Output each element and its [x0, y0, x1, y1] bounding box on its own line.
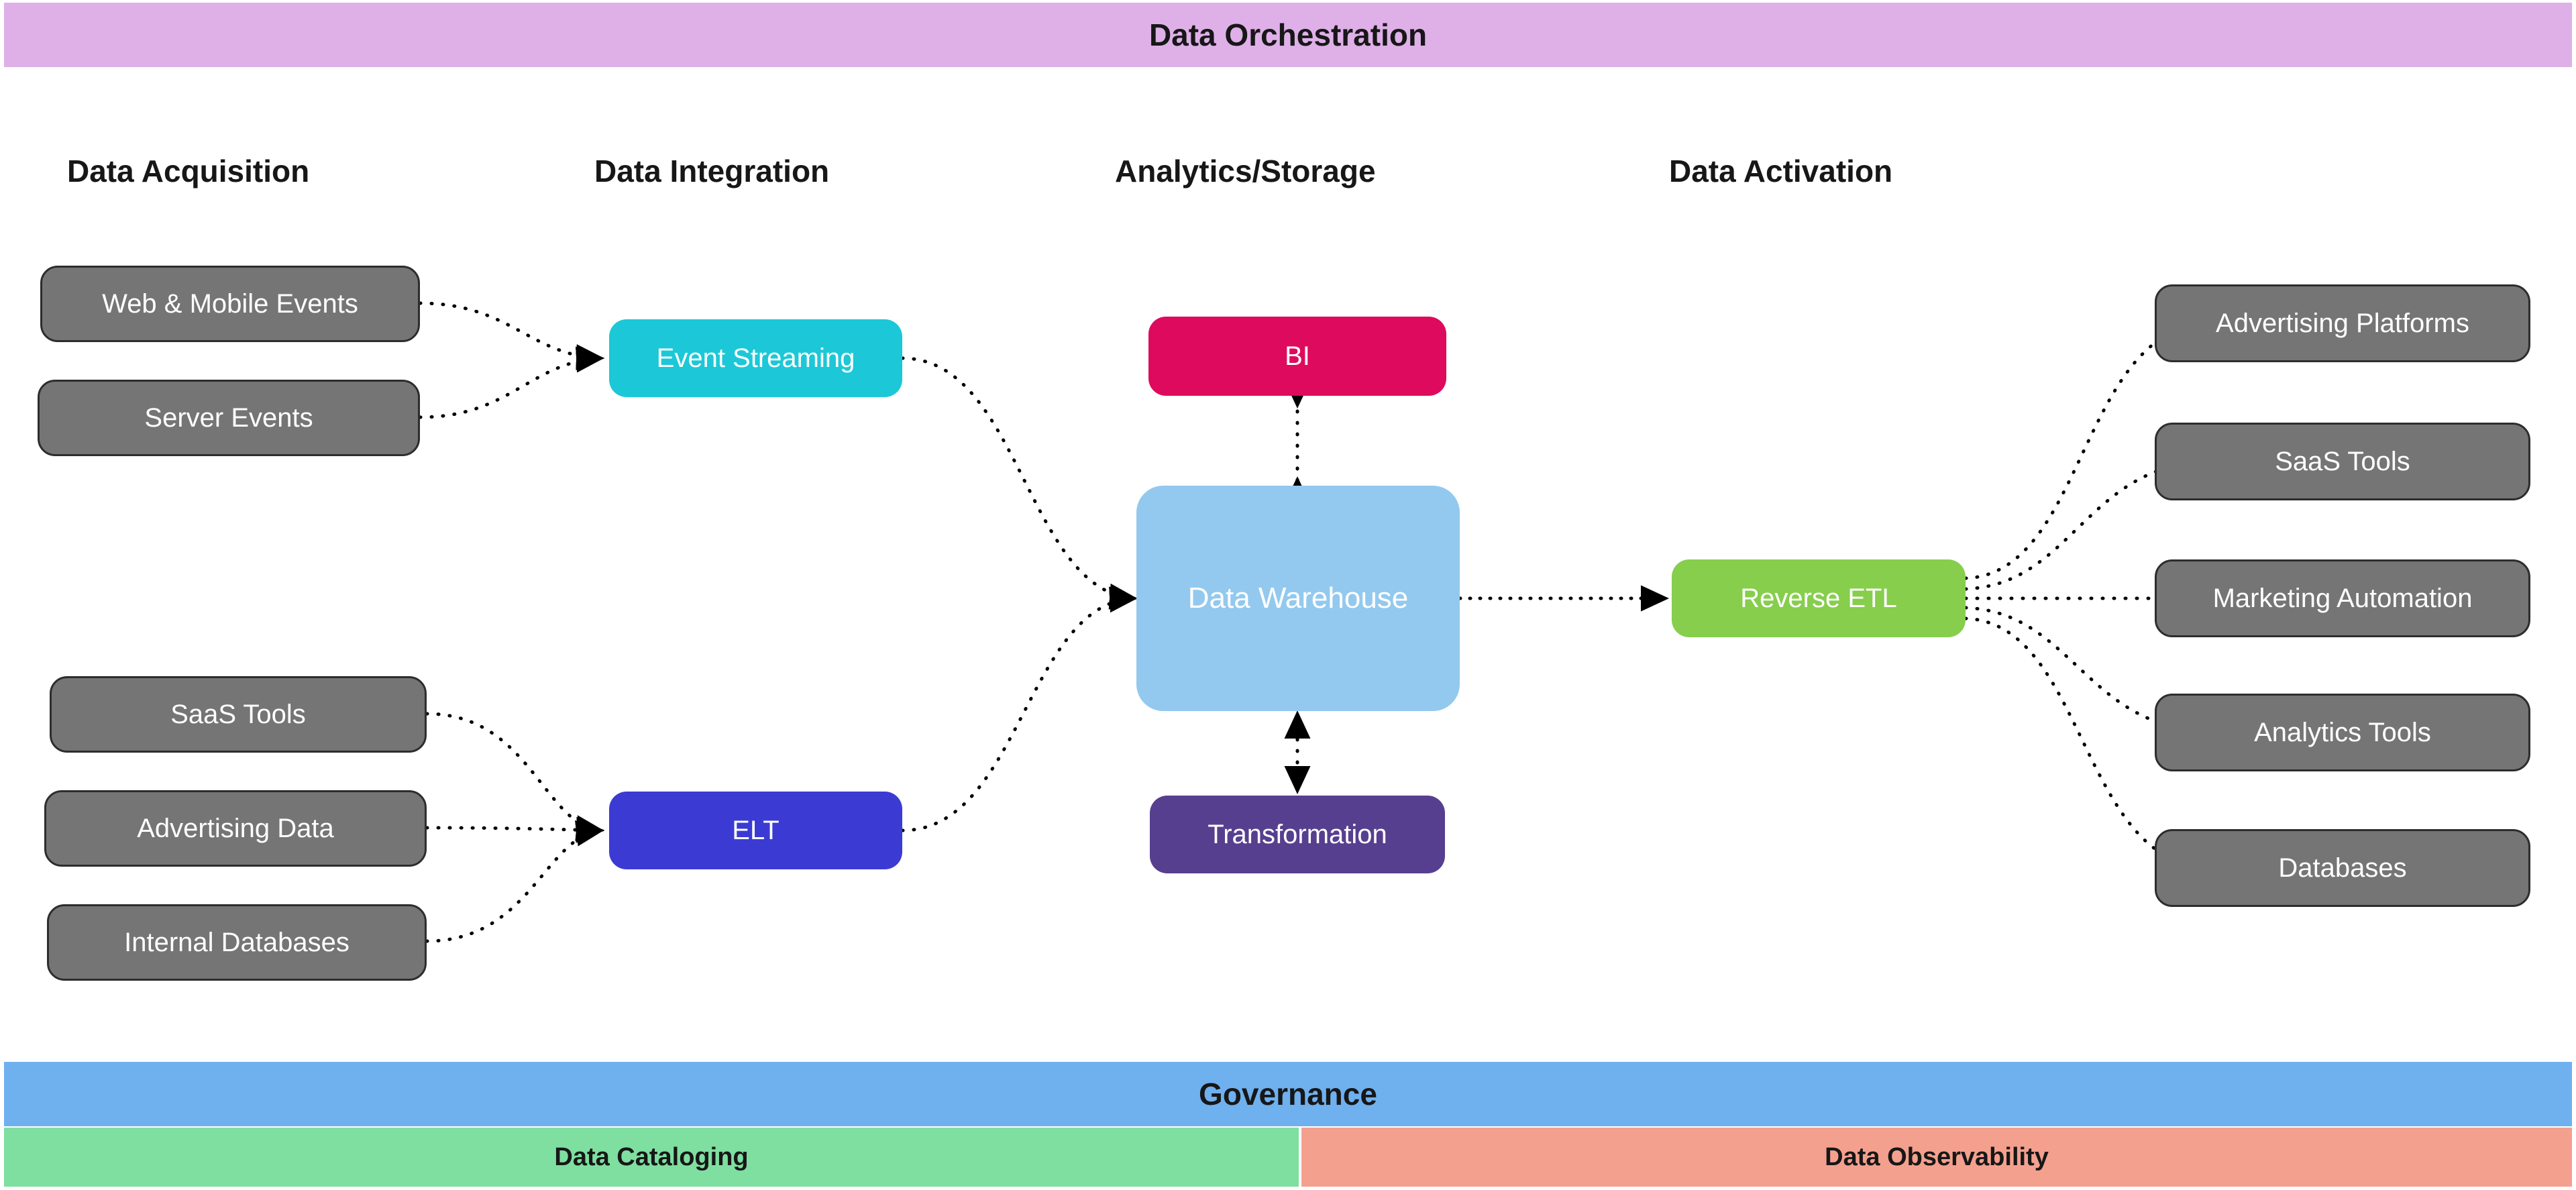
- governance-band: Governance: [4, 1062, 2572, 1126]
- node-label: ELT: [732, 815, 779, 846]
- edge-server-events-to-event-streaming: [420, 358, 600, 417]
- edge-web-mobile-events-to-event-streaming: [420, 303, 600, 358]
- node-label: Analytics Tools: [2254, 717, 2431, 748]
- node-web-mobile-events[interactable]: Web & Mobile Events: [40, 266, 420, 342]
- column-heading-analytics-storage: Analytics/Storage: [1115, 153, 1376, 189]
- node-label: Marketing Automation: [2213, 583, 2473, 614]
- column-heading-data-activation: Data Activation: [1669, 153, 1892, 189]
- node-label: SaaS Tools: [170, 699, 306, 730]
- edge-event-streaming-to-data-warehouse: [902, 358, 1134, 598]
- node-event-streaming[interactable]: Event Streaming: [609, 319, 902, 397]
- data-observability-band-label: Data Observability: [1825, 1143, 2049, 1172]
- column-heading-data-acquisition: Data Acquisition: [67, 153, 309, 189]
- node-server-events[interactable]: Server Events: [38, 380, 420, 456]
- node-label: Event Streaming: [657, 343, 855, 374]
- node-label: Advertising Platforms: [2216, 308, 2469, 339]
- node-label: Web & Mobile Events: [102, 288, 358, 319]
- node-label: Databases: [2278, 853, 2406, 883]
- edge-saas-tools-to-elt: [427, 714, 600, 830]
- node-label: Reverse ETL: [1740, 583, 1896, 614]
- node-label: Internal Databases: [124, 927, 350, 958]
- node-data-warehouse[interactable]: Data Warehouse: [1136, 486, 1460, 711]
- edge-advertising-data-to-elt: [427, 828, 600, 830]
- node-label: SaaS Tools: [2275, 446, 2410, 477]
- node-saas-tools-dest[interactable]: SaaS Tools: [2155, 423, 2530, 500]
- node-internal-databases[interactable]: Internal Databases: [47, 904, 427, 981]
- node-advertising-platforms[interactable]: Advertising Platforms: [2155, 284, 2530, 362]
- governance-band-label: Governance: [1199, 1076, 1377, 1112]
- node-label: BI: [1285, 341, 1310, 372]
- node-analytics-tools[interactable]: Analytics Tools: [2155, 694, 2530, 771]
- data-cataloging-band-label: Data Cataloging: [554, 1143, 748, 1172]
- orchestration-band: Data Orchestration: [4, 3, 2572, 67]
- node-advertising-data[interactable]: Advertising Data: [44, 790, 427, 867]
- data-cataloging-band: Data Cataloging: [4, 1128, 1299, 1187]
- node-transformation[interactable]: Transformation: [1150, 796, 1445, 873]
- node-label: Transformation: [1207, 819, 1387, 850]
- node-saas-tools-source[interactable]: SaaS Tools: [50, 676, 427, 753]
- node-elt[interactable]: ELT: [609, 792, 902, 869]
- node-databases[interactable]: Databases: [2155, 829, 2530, 907]
- node-bi[interactable]: BI: [1148, 317, 1446, 396]
- node-label: Server Events: [144, 402, 313, 433]
- data-observability-band: Data Observability: [1301, 1128, 2572, 1187]
- diagram-canvas: Data Orchestration Data Acquisition Data…: [0, 0, 2576, 1190]
- node-marketing-automation[interactable]: Marketing Automation: [2155, 559, 2530, 637]
- edge-internal-databases-to-elt: [427, 830, 600, 941]
- orchestration-band-label: Data Orchestration: [1149, 17, 1427, 53]
- edge-elt-to-data-warehouse: [902, 598, 1134, 830]
- column-heading-data-integration: Data Integration: [594, 153, 829, 189]
- node-label: Advertising Data: [137, 813, 333, 844]
- node-label: Data Warehouse: [1188, 582, 1409, 616]
- node-reverse-etl[interactable]: Reverse ETL: [1672, 559, 1966, 637]
